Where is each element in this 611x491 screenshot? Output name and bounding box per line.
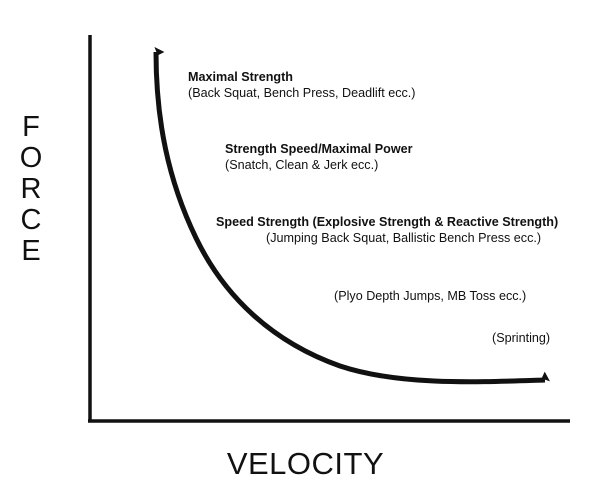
y-axis-title-letter-2: O <box>20 143 43 174</box>
y-axis-title-letter-1: F <box>22 112 40 143</box>
zone-examples: (Back Squat, Bench Press, Deadlift ecc.) <box>188 85 416 101</box>
force-velocity-curve-figure: F O R C E VELOCITY Maximal Strength (Bac… <box>0 0 611 491</box>
zone-title: Speed Strength (Explosive Strength & Rea… <box>216 214 558 230</box>
zone-examples: (Plyo Depth Jumps, MB Toss ecc.) <box>334 288 526 304</box>
zone-examples: (Sprinting) <box>492 330 550 346</box>
zone-label-plyometrics: (Plyo Depth Jumps, MB Toss ecc.) <box>334 288 526 304</box>
x-axis-title: VELOCITY <box>0 446 611 482</box>
zone-title: Strength Speed/Maximal Power <box>225 141 413 157</box>
zone-examples: (Jumping Back Squat, Ballistic Bench Pre… <box>216 230 558 246</box>
zone-label-sprinting: (Sprinting) <box>492 330 550 346</box>
y-axis-title-letter-5: E <box>21 236 40 267</box>
y-axis-title: F O R C E <box>8 112 54 267</box>
zone-examples: (Snatch, Clean & Jerk ecc.) <box>225 157 413 173</box>
zone-label-maximal-strength: Maximal Strength (Back Squat, Bench Pres… <box>188 69 416 101</box>
y-axis-title-letter-3: R <box>21 174 42 205</box>
zone-title: Maximal Strength <box>188 69 416 85</box>
zone-label-strength-speed: Strength Speed/Maximal Power (Snatch, Cl… <box>225 141 413 173</box>
y-axis-title-letter-4: C <box>21 205 42 236</box>
zone-label-speed-strength: Speed Strength (Explosive Strength & Rea… <box>216 214 558 246</box>
